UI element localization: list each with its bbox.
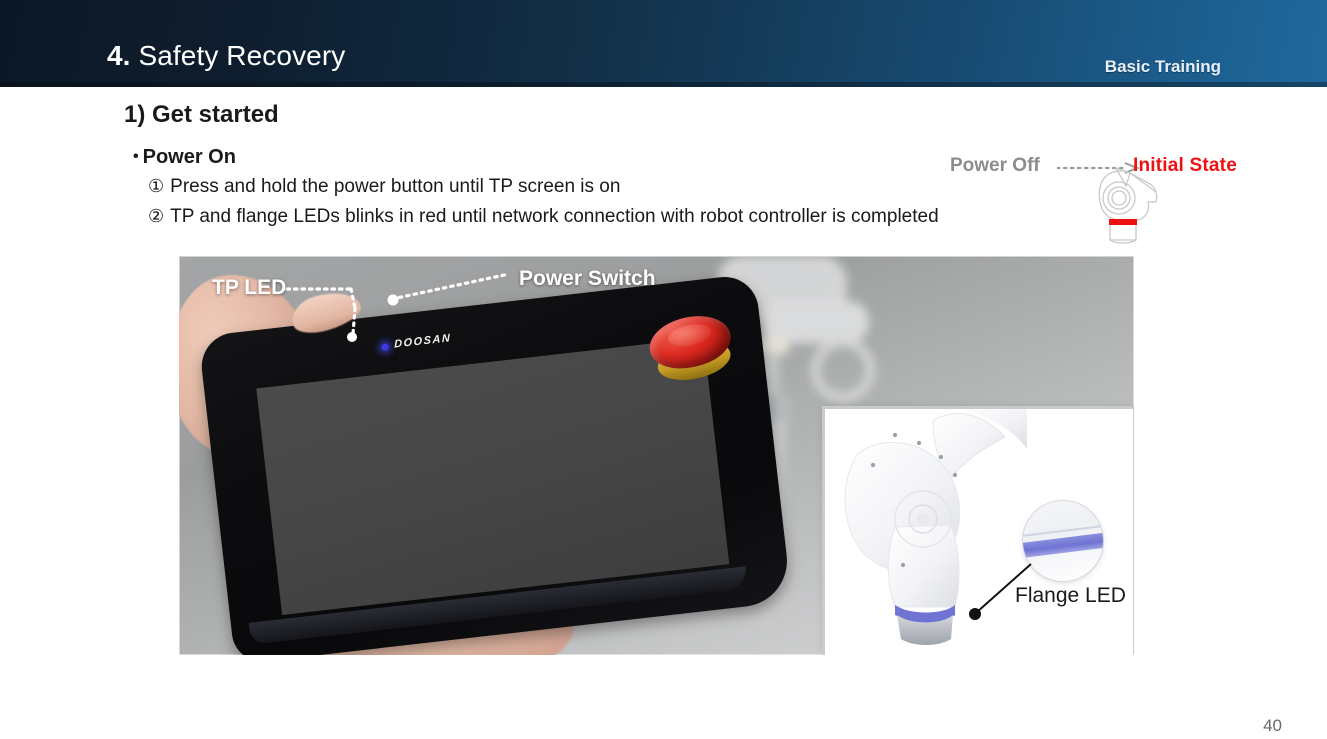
page-number: 40 [1263,716,1282,736]
slide-header-band: 4. Safety Recovery Basic Training [0,0,1327,87]
state-transition-callout: Power Off Initial State [940,150,1270,250]
label-flange-led: Flange LED [1015,584,1126,608]
step-item-1: ①Press and hold the power button until T… [148,176,620,198]
step-item-2: ②TP and flange LEDs blinks in red until … [148,206,939,228]
teach-pendant-photo: DOOSAN TP LED Power Switch [179,256,1134,655]
circled-number-2-icon: ② [148,206,164,226]
section-heading: 1) Get started [124,101,279,129]
label-power-switch: Power Switch [519,267,656,291]
course-label: Basic Training [1105,57,1221,77]
bullet-dot-icon: • [133,148,139,165]
initial-state-label: Initial State [1133,155,1237,177]
page-title-text: Safety Recovery [131,40,346,71]
step-1-text: Press and hold the power button until TP… [170,176,620,197]
step-2-text: TP and flange LEDs blinks in red until n… [170,206,939,227]
power-off-label: Power Off [950,155,1040,177]
circled-number-1-icon: ① [148,176,164,196]
bullet-power-on: •Power On [133,146,236,169]
flange-led-inset-panel: Flange LED [825,409,1133,655]
inset-leader-line [825,409,1133,655]
bullet-power-on-label: Power On [143,146,236,168]
page-title-number: 4. [107,40,131,71]
label-tp-led: TP LED [212,276,286,300]
page-title: 4. Safety Recovery [107,40,345,72]
